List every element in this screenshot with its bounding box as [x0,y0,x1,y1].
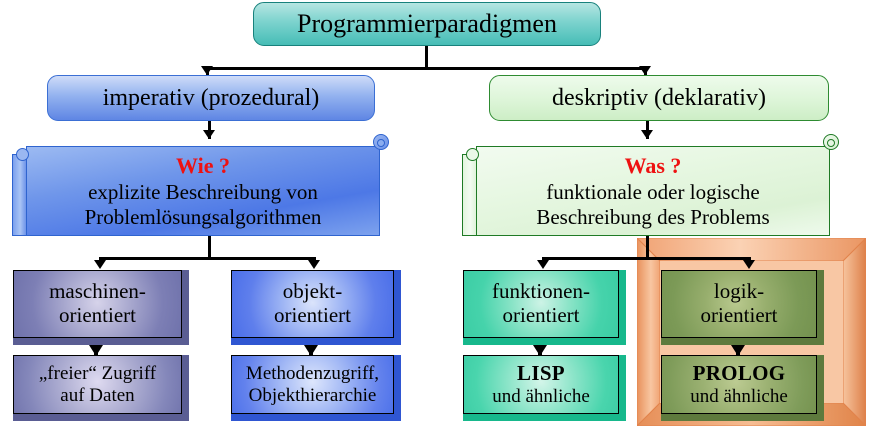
node-label-line-2: orientiert [503,304,580,328]
arrow-to-imperativ [201,66,213,75]
scroll-left-strip [462,154,477,236]
scroll-curl-right-inner-icon [377,139,385,147]
node-label-line-1: maschinen- [49,280,146,304]
node-shadow-right [619,355,626,414]
node-face: „freier“ Zugriff auf Daten [13,355,182,414]
node-freier-zugriff[interactable]: „freier“ Zugriff auf Daten [13,355,189,421]
node-label: imperativ (prozedural) [103,85,320,112]
node-face: LISP und ähnliche [463,355,619,414]
node-face: funktionen- orientiert [463,270,619,338]
node-keyword: LISP [517,362,565,386]
node-shadow-bottom [231,414,401,421]
node-label-line-2: orientiert [274,304,351,328]
scroll-curl-left-icon [466,148,479,161]
node-subtitle: und ähnliche [690,386,788,408]
connector-right-split-bar [542,257,751,260]
arrow-to-logik [743,260,755,269]
node-label-line-2: auf Daten [60,385,134,407]
node-subtitle: und ähnliche [492,386,590,408]
node-face: PROLOG und ähnliche [661,355,817,414]
arrow-to-deskriptiv [639,66,651,75]
node-programmierparadigmen[interactable]: Programmierparadigmen [253,2,601,46]
node-shadow-right [182,355,189,414]
diagram-canvas: Programmierparadigmen imperativ (prozedu… [0,0,880,426]
node-face: logik- orientiert [661,270,817,338]
node-label-line-1: Methodenzugriff, [246,363,379,385]
description-line-1: explizite Beschreibung von [88,180,318,205]
node-label-line-1: funktionen- [492,280,590,304]
node-face: maschinen- orientiert [13,270,182,338]
connector-left-split-stem [208,236,211,259]
connector-root-bar [206,67,647,70]
node-methodenzugriff[interactable]: Methodenzugriff, Objekthierarchie [231,355,401,421]
description-line-1: funktionale oder logische [546,180,759,205]
node-label-line-1: objekt- [283,280,342,304]
node-label: Programmierparadigmen [297,9,557,38]
node-keyword: PROLOG [693,362,786,386]
node-shadow-bottom [661,338,824,345]
node-deskriptiv[interactable]: deskriptiv (deklarativ) [489,75,829,121]
node-shadow-bottom [463,414,626,421]
arrow-to-objekt [308,260,320,269]
node-label-line-1: logik- [714,280,764,304]
scroll-curl-left-icon [16,148,29,161]
scroll-imperativ-description[interactable]: Wie ? explizite Beschreibung von Problem… [12,132,390,236]
node-face: Methodenzugriff, Objekthierarchie [231,355,394,414]
question-label: Was ? [625,153,682,179]
node-label-line-2: orientiert [701,304,778,328]
node-label: deskriptiv (deklarativ) [552,85,766,112]
node-lisp[interactable]: LISP und ähnliche [463,355,626,421]
node-shadow-bottom [661,414,824,421]
node-shadow-bottom [13,338,189,345]
node-logik-orientiert[interactable]: logik- orientiert [661,270,824,345]
node-shadow-right [182,270,189,338]
connector-right-split-stem [646,236,649,259]
node-shadow-right [817,270,824,338]
question-label: Wie ? [176,153,230,179]
node-label-line-1: „freier“ Zugriff [39,363,156,385]
node-funktionen-orientiert[interactable]: funktionen- orientiert [463,270,626,345]
node-shadow-right [394,355,401,414]
description-line-2: Problemlösungsalgorithmen [85,205,322,230]
connector-root-stem [425,46,428,69]
node-label-line-2: Objekthierarchie [249,385,377,407]
node-shadow-right [394,270,401,338]
description-line-2: Beschreibung des Problems [536,205,769,230]
node-shadow-bottom [231,338,401,345]
scroll-body: Was ? funktionale oder logische Beschrei… [476,146,830,236]
node-shadow-right [817,355,824,414]
scroll-left-strip [12,154,27,236]
node-label-line-2: orientiert [59,304,136,328]
node-shadow-bottom [13,414,189,421]
node-shadow-bottom [463,338,626,345]
node-imperativ[interactable]: imperativ (prozedural) [47,75,375,121]
scroll-body: Wie ? explizite Beschreibung von Problem… [26,146,380,236]
node-maschinen-orientiert[interactable]: maschinen- orientiert [13,270,189,345]
connector-left-split-bar [99,257,316,260]
node-objekt-orientiert[interactable]: objekt- orientiert [231,270,401,345]
node-prolog[interactable]: PROLOG und ähnliche [661,355,824,421]
node-face: objekt- orientiert [231,270,394,338]
scroll-deskriptiv-description[interactable]: Was ? funktionale oder logische Beschrei… [462,132,840,236]
scroll-curl-right-inner-icon [827,139,835,147]
arrow-to-maschinen [94,260,106,269]
node-shadow-right [619,270,626,338]
arrow-to-funktionen [537,260,549,269]
